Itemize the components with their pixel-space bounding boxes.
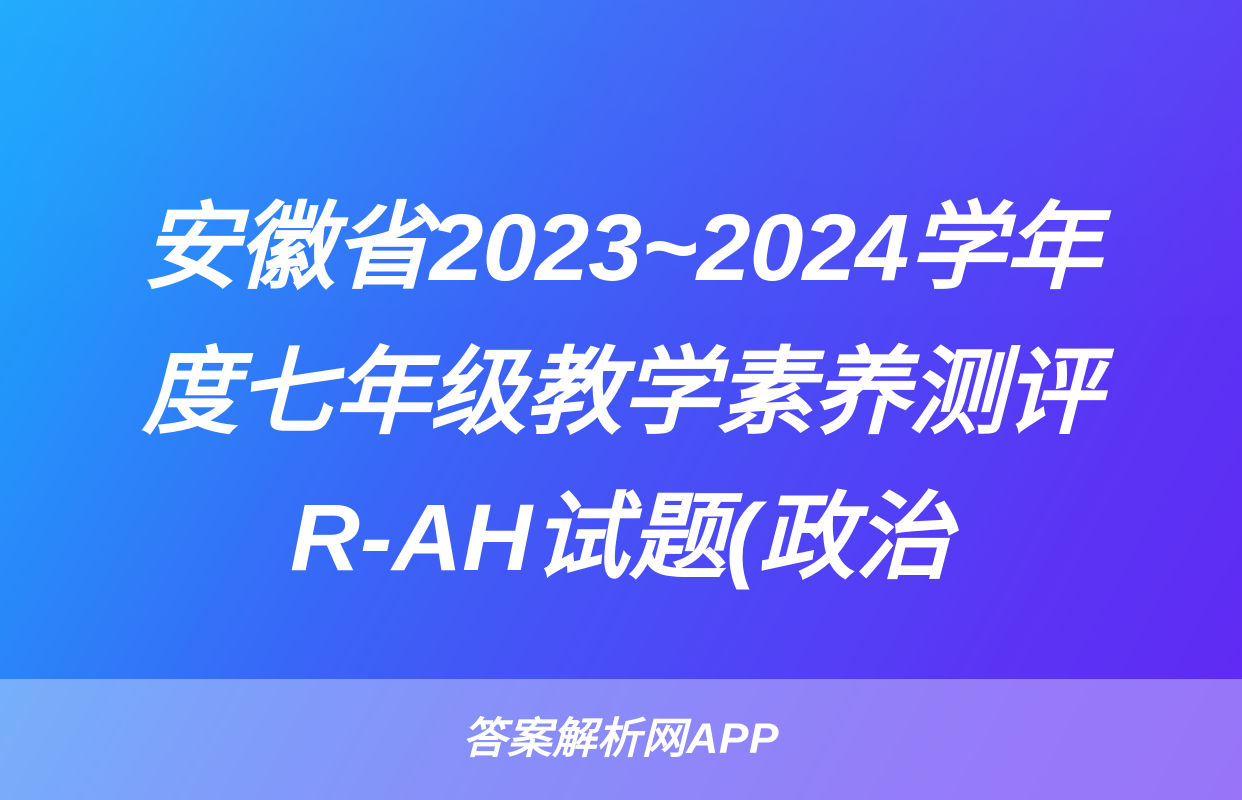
footer-watermark-band: 答案解析网APP <box>0 679 1242 800</box>
title-line-1: 安徽省2023~2024学年 <box>28 176 1213 321</box>
app-watermark-label: 答案解析网APP <box>463 718 780 761</box>
title-line-2: 度七年级教学素养测评 <box>28 321 1213 466</box>
title-line-3: R-AH试题(政治 <box>28 466 1213 611</box>
page-title: 安徽省2023~2024学年 度七年级教学素养测评 R-AH试题(政治 <box>0 176 1242 611</box>
exam-paper-cover: 安徽省2023~2024学年 度七年级教学素养测评 R-AH试题(政治 答案解析… <box>0 0 1242 800</box>
